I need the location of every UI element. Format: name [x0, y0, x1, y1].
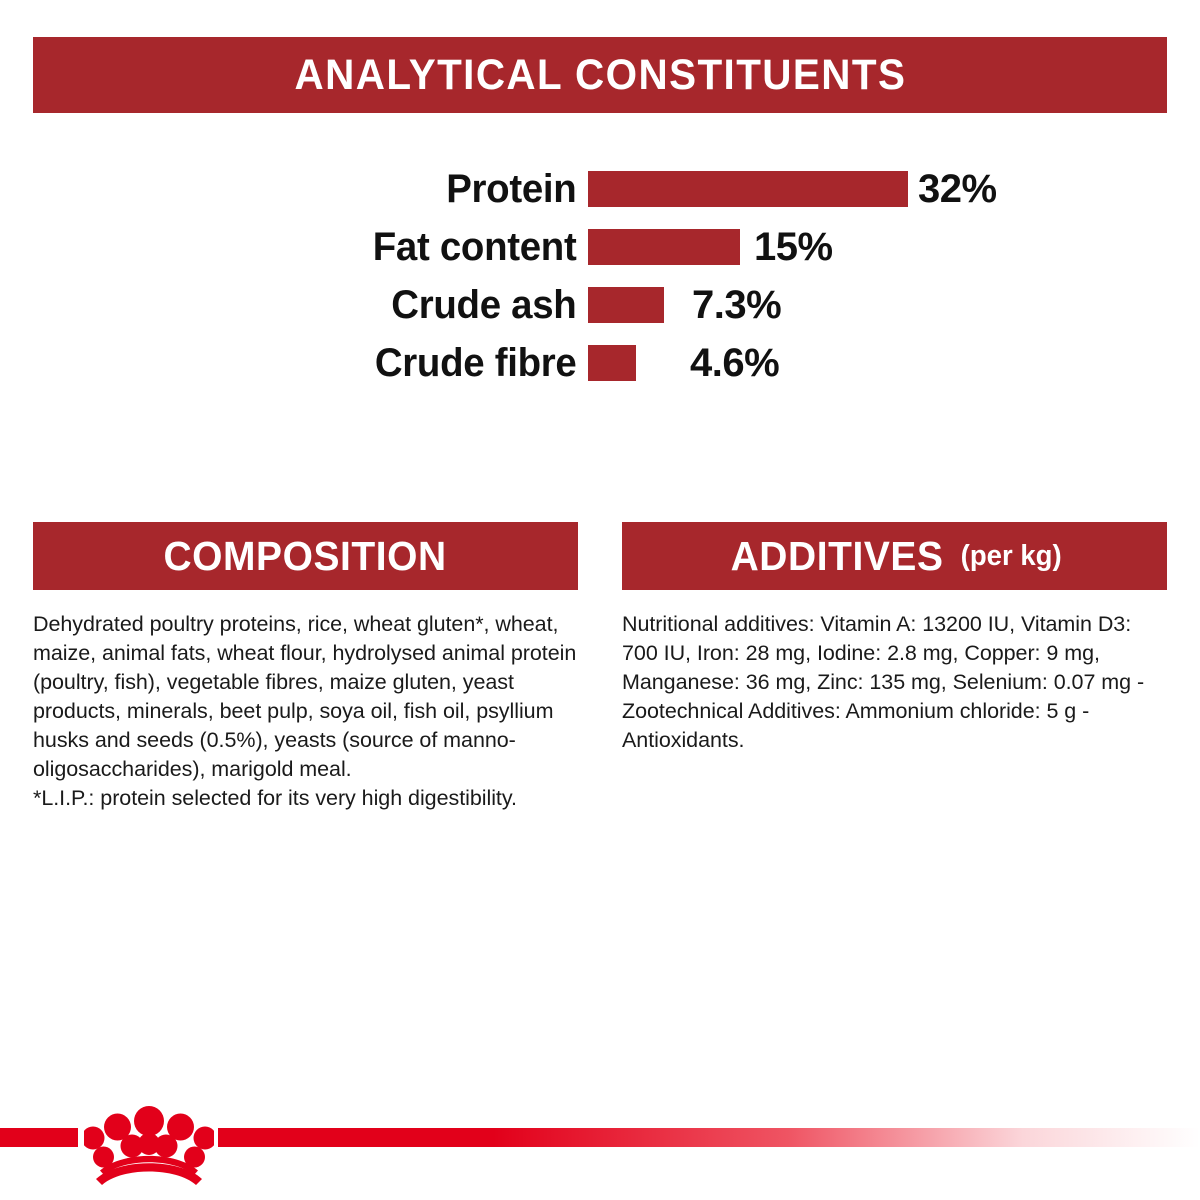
bar-label-crude-ash: Crude ash	[24, 283, 588, 328]
bar-label-protein: Protein	[24, 167, 588, 212]
composition-section: COMPOSITION Dehydrated poultry proteins,…	[33, 522, 578, 813]
composition-footnote-text: *L.I.P.: protein selected for its very h…	[33, 784, 578, 813]
bar-value-crude-fibre: 4.6%	[690, 341, 779, 386]
bar-track: 32%	[588, 167, 1200, 212]
additives-section: ADDITIVES (per kg) Nutritional additives…	[622, 522, 1167, 813]
footer	[0, 1108, 1200, 1200]
additives-header: ADDITIVES (per kg)	[622, 522, 1167, 590]
bar-value-crude-ash: 7.3%	[692, 283, 781, 328]
composition-ingredients-text: Dehydrated poultry proteins, rice, wheat…	[33, 610, 578, 784]
page-title: ANALYTICAL CONSTITUENTS	[294, 51, 906, 100]
bar-fill-crude-ash	[588, 287, 664, 323]
composition-header: COMPOSITION	[33, 522, 578, 590]
composition-body: Dehydrated poultry proteins, rice, wheat…	[33, 610, 578, 813]
footer-rule-left	[0, 1128, 78, 1147]
composition-heading-label: COMPOSITION	[164, 533, 447, 580]
chart-row: Crude fibre 4.6%	[0, 334, 1200, 392]
bar-track: 4.6%	[588, 341, 1200, 386]
bar-fill-crude-fibre	[588, 345, 636, 381]
bar-value-fat-content: 15%	[754, 225, 833, 270]
footer-rule-right	[218, 1128, 1200, 1147]
chart-row: Fat content 15%	[0, 218, 1200, 276]
bar-label-fat-content: Fat content	[24, 225, 588, 270]
info-sections: COMPOSITION Dehydrated poultry proteins,…	[33, 522, 1167, 813]
analytical-constituents-chart: Protein 32% Fat content 15% Crude ash 7.…	[0, 160, 1200, 392]
bar-label-crude-fibre: Crude fibre	[24, 341, 588, 386]
chart-row: Crude ash 7.3%	[0, 276, 1200, 334]
bar-track: 7.3%	[588, 283, 1200, 328]
bar-value-protein: 32%	[918, 167, 997, 212]
chart-row: Protein 32%	[0, 160, 1200, 218]
additives-text: Nutritional additives: Vitamin A: 13200 …	[622, 610, 1167, 755]
bar-track: 15%	[588, 225, 1200, 270]
analytical-constituents-banner: ANALYTICAL CONSTITUENTS	[33, 37, 1167, 113]
additives-heading-suffix-label: (per kg)	[961, 540, 1062, 573]
additives-heading-label: ADDITIVES	[730, 533, 943, 580]
royal-canin-crown-icon	[84, 1100, 214, 1186]
additives-body: Nutritional additives: Vitamin A: 13200 …	[622, 610, 1167, 755]
bar-fill-protein	[588, 171, 908, 207]
bar-fill-fat-content	[588, 229, 740, 265]
